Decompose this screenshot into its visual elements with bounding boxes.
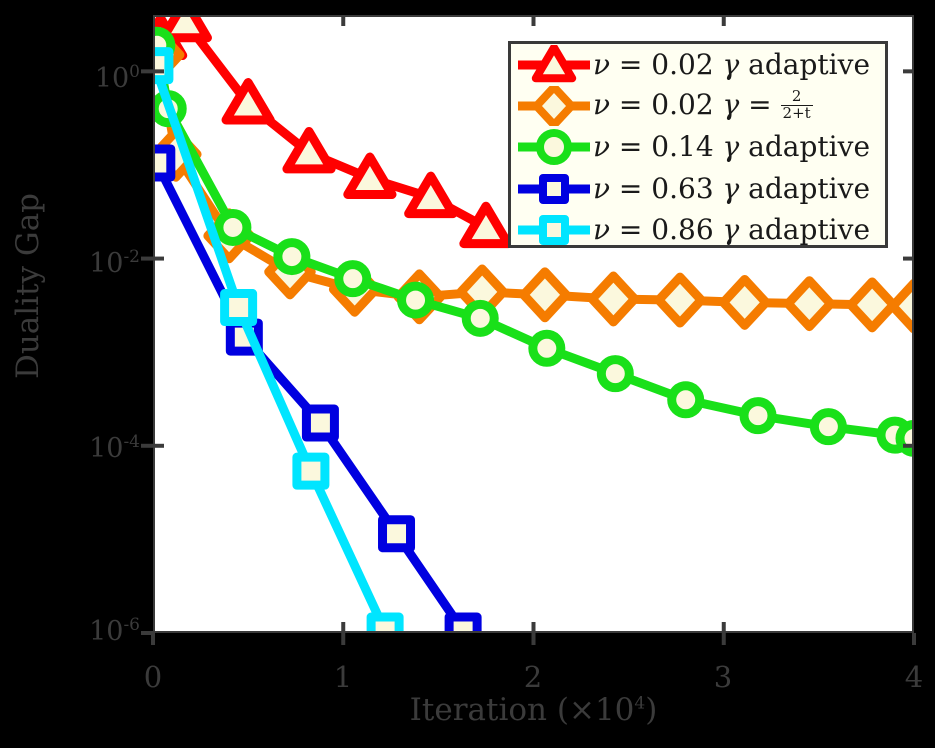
square-marker-icon: [515, 210, 593, 250]
y-axis-label: Duality Gap: [10, 166, 46, 406]
legend-marker-1: [537, 87, 572, 125]
legend-item-3[interactable]: ν = 0.63 γ adaptive: [511, 168, 885, 209]
legend-label-1: ν = 0.02 γ = 22+t: [593, 90, 813, 123]
ytick-exp-0: 0: [129, 62, 140, 82]
xtick-label-4: 4: [884, 660, 935, 694]
marker-1-9: [659, 277, 702, 323]
marker-2-5: [402, 286, 430, 314]
marker-4-1: [225, 294, 253, 322]
marker-3-0: [153, 149, 171, 177]
legend-marker-4: [543, 219, 565, 241]
marker-2-8: [601, 360, 629, 388]
legend-marker-0: [536, 47, 572, 78]
xtick-label-2: 2: [503, 660, 563, 694]
legend-label-2: ν = 0.14 γ adaptive: [593, 133, 870, 161]
legend-label-4: ν = 0.86 γ adaptive: [593, 216, 870, 244]
legend: ν = 0.02 γ adaptiveν = 0.02 γ = 22+tν = …: [508, 41, 888, 248]
marker-2-4: [339, 265, 367, 293]
marker-4-0: [153, 52, 169, 80]
marker-4-2: [297, 457, 325, 485]
legend-item-4[interactable]: ν = 0.86 γ adaptive: [511, 210, 885, 251]
x-axis-label-mult: ×10: [569, 692, 634, 728]
marker-2-10: [744, 402, 772, 430]
figure: 100 10-2 10-4 10-6 0 1 2 3 4 Duality Gap…: [0, 0, 935, 748]
ytick-label-3: 10-6: [44, 615, 140, 647]
ytick-exp-1: -2: [123, 247, 140, 267]
marker-1-7: [524, 272, 567, 318]
legend-label-3: ν = 0.63 γ adaptive: [593, 175, 870, 203]
legend-item-0[interactable]: ν = 0.02 γ adaptive: [511, 44, 885, 85]
ytick-exp-3: -6: [123, 615, 140, 635]
marker-3-3: [383, 520, 411, 548]
legend-item-1[interactable]: ν = 0.02 γ = 22+t: [511, 85, 885, 126]
legend-marker-2: [540, 133, 568, 161]
marker-3-4: [449, 617, 477, 633]
x-axis-label: Iteration (×104): [153, 692, 914, 728]
ytick-exp-2: -4: [123, 432, 140, 452]
ytick-label-2: 10-4: [44, 432, 140, 464]
series-4: [153, 52, 399, 633]
legend-marker-3: [543, 178, 565, 200]
marker-4-3: [371, 617, 399, 633]
marker-1-11: [788, 281, 831, 327]
legend-item-2[interactable]: ν = 0.14 γ adaptive: [511, 127, 885, 168]
circle-marker-icon: [515, 127, 593, 167]
marker-0-6: [464, 206, 508, 243]
marker-2-7: [533, 334, 561, 362]
marker-1-13: [893, 283, 914, 329]
xtick-label-3: 3: [693, 660, 753, 694]
marker-0-5: [409, 176, 453, 213]
marker-2-3: [278, 243, 306, 271]
marker-2-6: [466, 304, 494, 332]
ytick-label-0: 100: [44, 62, 140, 94]
xtick-label-1: 1: [313, 660, 373, 694]
marker-3-2: [306, 409, 334, 437]
marker-2-11: [814, 413, 842, 441]
marker-0-4: [348, 157, 392, 194]
marker-1-8: [592, 276, 635, 322]
x-axis-label-exp: 4: [634, 694, 645, 714]
marker-2-2: [219, 213, 247, 241]
marker-2-9: [672, 386, 700, 414]
marker-2-13: [900, 424, 914, 452]
series-3: [153, 149, 477, 633]
ylabel-wrap: Duality Gap: [0, 0, 1, 1]
square-marker-icon: [515, 169, 593, 209]
diamond-marker-icon: [515, 86, 593, 126]
ytick-label-1: 10-2: [44, 247, 140, 279]
marker-1-10: [723, 279, 766, 325]
legend-label-0: ν = 0.02 γ adaptive: [593, 51, 870, 79]
triangle-marker-icon: [515, 45, 593, 85]
series-line-3: [157, 163, 463, 631]
marker-1-12: [851, 282, 894, 328]
xtick-label-0: 0: [123, 660, 183, 694]
x-axis-label-text: Iteration: [410, 692, 547, 728]
